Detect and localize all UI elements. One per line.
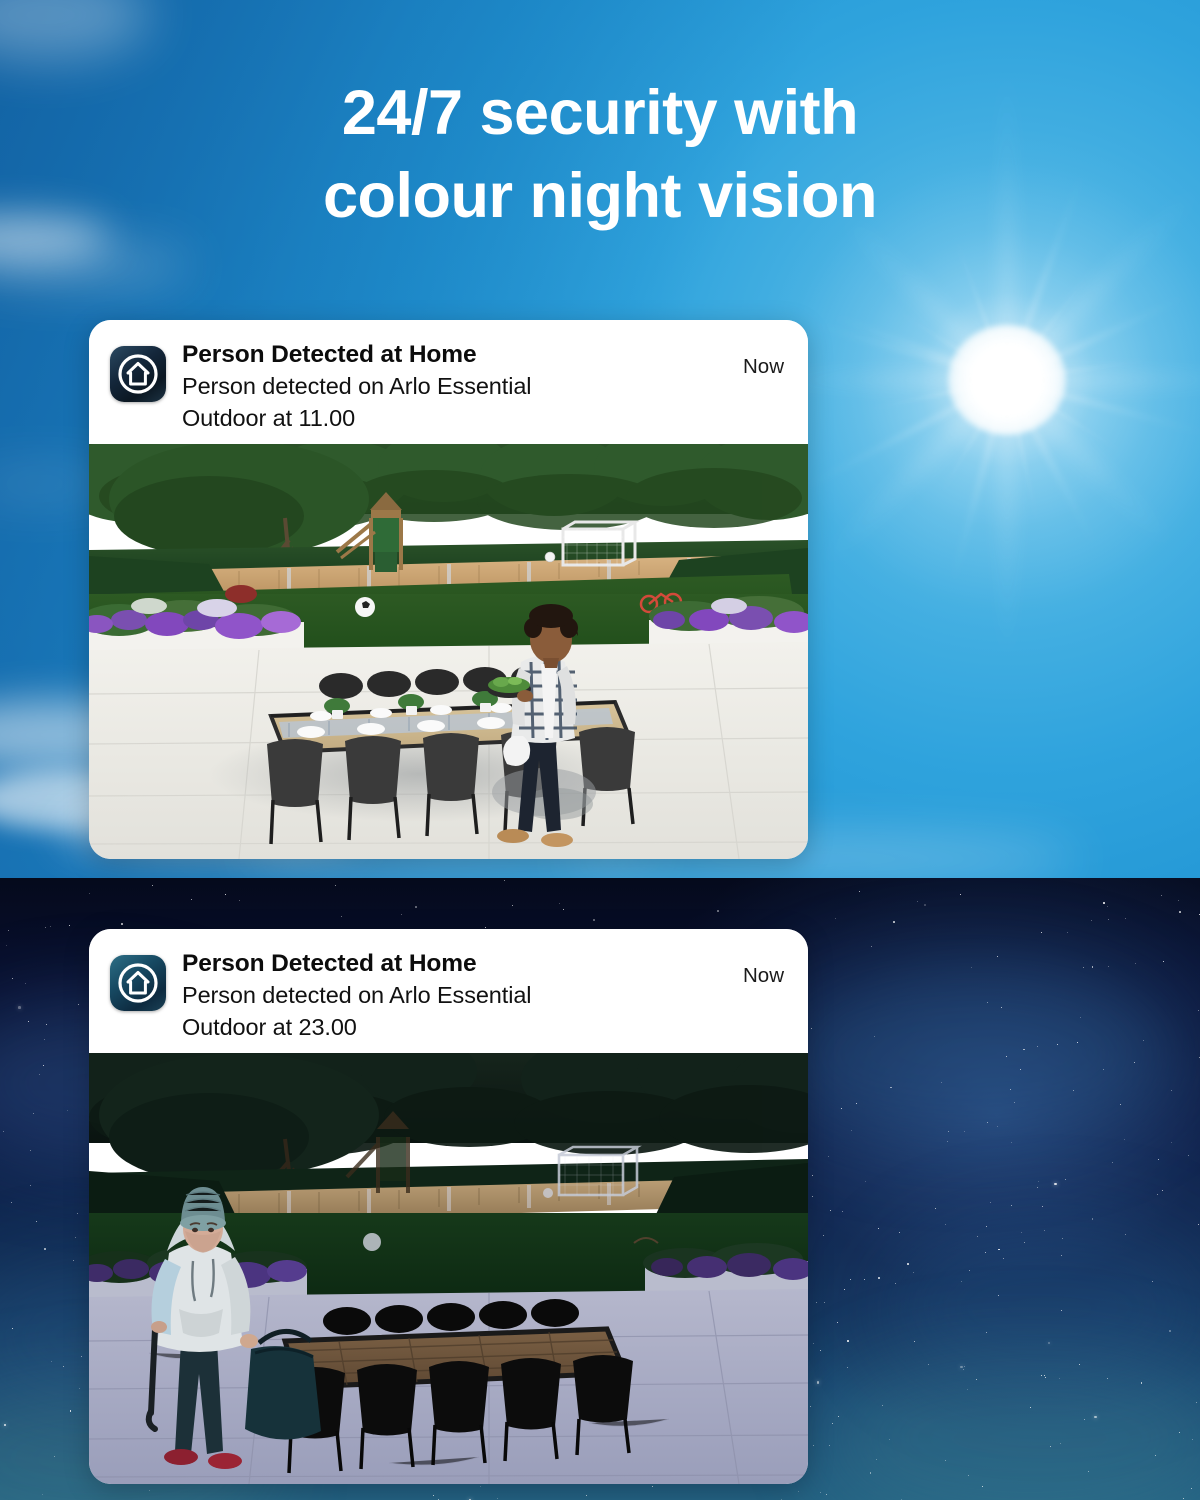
- star: [239, 900, 240, 901]
- camera-feed-night[interactable]: [89, 1053, 808, 1484]
- star: [1050, 1446, 1051, 1447]
- star: [838, 1416, 839, 1417]
- notification-body-line-1: Person detected on Arlo Essential: [182, 371, 727, 402]
- star: [18, 1006, 21, 1009]
- star: [1135, 963, 1136, 964]
- star: [871, 946, 872, 947]
- star: [1152, 1281, 1153, 1282]
- star: [1065, 1179, 1066, 1180]
- star: [1014, 1102, 1015, 1103]
- star: [1179, 911, 1181, 913]
- notification-body-line-2: Outdoor at 11.00: [182, 403, 727, 434]
- page-title: 24/7 security with colour night vision: [0, 72, 1200, 238]
- star: [36, 1221, 37, 1222]
- star: [998, 1249, 1000, 1251]
- star: [889, 1439, 890, 1440]
- star: [986, 1226, 987, 1227]
- star: [652, 1486, 653, 1487]
- star: [11, 1202, 12, 1203]
- star: [717, 910, 719, 912]
- star: [3, 1131, 4, 1132]
- star: [876, 1459, 877, 1460]
- star: [401, 914, 402, 915]
- star: [1073, 1090, 1074, 1091]
- star: [44, 1248, 46, 1250]
- star: [1060, 1443, 1061, 1444]
- star: [964, 1366, 965, 1367]
- star: [1011, 1205, 1012, 1206]
- star: [1045, 1377, 1046, 1378]
- star: [563, 909, 564, 910]
- star: [28, 1021, 29, 1022]
- star: [1054, 1183, 1057, 1186]
- star: [859, 891, 860, 892]
- star: [945, 1460, 946, 1461]
- star: [990, 1202, 991, 1203]
- star: [73, 1260, 74, 1261]
- star: [480, 1486, 481, 1487]
- star: [586, 1495, 587, 1496]
- star: [4, 1424, 7, 1427]
- star: [1037, 1046, 1038, 1047]
- star: [70, 1410, 72, 1412]
- star: [820, 1350, 821, 1351]
- star: [850, 1279, 851, 1280]
- star: [67, 1110, 68, 1111]
- star: [835, 918, 836, 919]
- star: [1061, 1255, 1062, 1256]
- star: [844, 1289, 845, 1290]
- notification-text-block: Person Detected at Home Person detected …: [182, 338, 727, 434]
- star: [1011, 1142, 1012, 1143]
- arlo-home-icon: [110, 346, 166, 402]
- star: [44, 1039, 45, 1040]
- star: [33, 1113, 34, 1114]
- star: [987, 1122, 988, 1123]
- star: [12, 1328, 13, 1329]
- star: [1112, 1162, 1113, 1163]
- star: [841, 1108, 842, 1109]
- notification-text-block: Person Detected at Home Person detected …: [182, 947, 727, 1043]
- nebula-wisp: [820, 1348, 1200, 1500]
- star: [50, 926, 51, 927]
- star: [75, 1237, 76, 1238]
- day-panel: 24/7 security with colour night vision P…: [0, 0, 1200, 878]
- notification-card-day[interactable]: Person Detected at Home Person detected …: [89, 320, 808, 859]
- nebula-wisp: [760, 958, 1180, 1148]
- notification-timestamp: Now: [743, 338, 790, 379]
- star: [1198, 1010, 1199, 1011]
- notification-timestamp: Now: [743, 947, 790, 988]
- star: [54, 1456, 55, 1457]
- star: [149, 1490, 150, 1491]
- star: [1003, 1258, 1004, 1259]
- star: [948, 1131, 949, 1132]
- star: [79, 1388, 80, 1389]
- star: [1092, 1218, 1094, 1220]
- notification-body-line-1: Person detected on Arlo Essential: [182, 980, 727, 1011]
- star: [823, 1235, 824, 1236]
- star: [1188, 1155, 1189, 1156]
- star: [191, 899, 192, 900]
- star: [1107, 906, 1108, 907]
- star: [1010, 1089, 1011, 1090]
- star: [1107, 1378, 1108, 1379]
- star: [1091, 920, 1092, 921]
- star: [817, 1381, 820, 1384]
- star: [812, 1175, 813, 1176]
- notification-header: Person Detected at Home Person detected …: [89, 929, 808, 1053]
- star: [977, 1236, 978, 1237]
- star: [812, 1196, 813, 1197]
- star: [997, 956, 999, 958]
- notification-card-night[interactable]: Person Detected at Home Person detected …: [89, 929, 808, 1484]
- star: [1196, 1402, 1197, 1403]
- star: [593, 919, 595, 921]
- star: [1001, 1007, 1002, 1008]
- star: [89, 893, 90, 894]
- star: [25, 983, 26, 984]
- star: [1048, 1342, 1051, 1345]
- star: [1125, 918, 1126, 919]
- camera-feed-day[interactable]: [89, 444, 808, 859]
- star: [826, 1494, 827, 1495]
- star: [46, 1024, 47, 1025]
- star: [1192, 1439, 1193, 1440]
- star: [837, 1322, 838, 1323]
- star: [813, 1343, 814, 1344]
- star: [225, 894, 226, 895]
- star: [12, 978, 13, 979]
- star: [1079, 1364, 1080, 1365]
- star: [813, 1445, 814, 1446]
- star: [798, 1491, 799, 1492]
- star: [810, 1406, 811, 1407]
- star: [971, 967, 972, 968]
- star: [969, 1270, 970, 1271]
- star: [1041, 932, 1042, 933]
- star: [1088, 1471, 1089, 1472]
- star: [415, 906, 417, 908]
- star: [811, 1028, 812, 1029]
- star: [1044, 1230, 1045, 1231]
- star: [1044, 1375, 1045, 1376]
- star: [8, 930, 9, 931]
- star: [878, 1228, 879, 1229]
- star: [928, 1364, 929, 1365]
- star: [1023, 1049, 1025, 1051]
- star: [78, 1004, 79, 1005]
- star: [43, 1065, 44, 1066]
- star: [559, 903, 560, 904]
- star: [864, 1279, 865, 1280]
- star: [1057, 1044, 1058, 1045]
- star: [865, 1181, 866, 1182]
- star: [1169, 1330, 1171, 1332]
- star: [335, 885, 336, 886]
- star: [960, 1366, 963, 1369]
- star: [968, 1475, 969, 1476]
- star: [1067, 932, 1068, 933]
- star: [982, 1486, 983, 1487]
- star: [81, 1356, 82, 1357]
- star: [1083, 967, 1084, 968]
- star: [1183, 1498, 1184, 1499]
- star: [1157, 1194, 1158, 1195]
- headline-line-2: colour night vision: [323, 161, 877, 231]
- star: [1061, 1310, 1062, 1311]
- star: [964, 1131, 965, 1132]
- star: [824, 1302, 825, 1303]
- notification-body-line-2: Outdoor at 23.00: [182, 1012, 727, 1043]
- star: [433, 1495, 434, 1496]
- night-panel: Person Detected at Home Person detected …: [0, 878, 1200, 1500]
- notification-header: Person Detected at Home Person detected …: [89, 320, 808, 444]
- star: [847, 1340, 849, 1342]
- star: [1108, 966, 1109, 967]
- star: [1155, 1455, 1156, 1456]
- star: [890, 1087, 892, 1089]
- star: [851, 1130, 852, 1131]
- star: [1125, 1234, 1126, 1235]
- star: [935, 1208, 936, 1209]
- star: [1108, 919, 1109, 920]
- star: [1024, 1242, 1025, 1243]
- star: [947, 1141, 948, 1142]
- star: [1094, 1416, 1097, 1419]
- star: [1030, 1407, 1031, 1408]
- star: [1059, 1378, 1060, 1379]
- arlo-home-icon: [110, 955, 166, 1011]
- star: [1103, 902, 1105, 904]
- star: [907, 1263, 909, 1265]
- star: [997, 1126, 998, 1127]
- star: [1120, 1104, 1121, 1105]
- star: [152, 885, 153, 886]
- star: [1021, 1232, 1022, 1233]
- star: [63, 1366, 64, 1367]
- star: [913, 1272, 914, 1273]
- star: [1042, 1206, 1043, 1207]
- notification-title: Person Detected at Home: [182, 949, 727, 979]
- star: [998, 1295, 999, 1296]
- star: [1191, 1488, 1192, 1489]
- star: [1158, 1159, 1159, 1160]
- star: [941, 1082, 942, 1083]
- star: [960, 894, 961, 895]
- star: [69, 925, 70, 926]
- star: [1161, 895, 1162, 896]
- star: [1103, 1069, 1104, 1070]
- star: [1171, 1142, 1172, 1143]
- star: [39, 1074, 40, 1075]
- star: [870, 1472, 872, 1474]
- star: [1006, 1056, 1007, 1057]
- star: [874, 1036, 875, 1037]
- star: [1124, 1139, 1125, 1140]
- star: [976, 1379, 977, 1380]
- star: [829, 1445, 830, 1446]
- star: [987, 1002, 989, 1004]
- star: [1037, 1187, 1038, 1188]
- star: [832, 1423, 834, 1425]
- star: [986, 1332, 987, 1333]
- star: [121, 923, 123, 925]
- star: [847, 1367, 848, 1368]
- star: [1038, 1181, 1039, 1182]
- star: [1020, 1069, 1021, 1070]
- star: [42, 1494, 43, 1495]
- star: [842, 1211, 843, 1212]
- star: [6, 945, 7, 946]
- star: [1092, 966, 1094, 968]
- star: [878, 1277, 880, 1279]
- star: [1198, 1224, 1199, 1225]
- star: [963, 1369, 964, 1370]
- star: [816, 1302, 817, 1303]
- star: [1062, 1238, 1063, 1239]
- star: [30, 1185, 31, 1186]
- star: [1179, 1432, 1180, 1433]
- star: [856, 1103, 857, 1104]
- star: [882, 1405, 883, 1406]
- star: [924, 904, 926, 906]
- star: [899, 1232, 900, 1233]
- notification-title: Person Detected at Home: [182, 340, 727, 370]
- star: [45, 927, 46, 928]
- star: [961, 1281, 962, 1282]
- star: [30, 1150, 31, 1151]
- star: [1141, 1382, 1143, 1384]
- star: [820, 1492, 821, 1493]
- star: [895, 1283, 896, 1284]
- star: [901, 1499, 902, 1500]
- star: [1162, 1190, 1163, 1191]
- star: [77, 1213, 78, 1214]
- star: [828, 1156, 829, 1157]
- star: [914, 1341, 915, 1342]
- star: [945, 1224, 946, 1225]
- star: [917, 901, 918, 902]
- star: [1143, 1040, 1144, 1041]
- star: [985, 1252, 986, 1253]
- headline-line-1: 24/7 security with: [342, 78, 858, 148]
- nebula-wisp: [880, 1218, 1200, 1398]
- star: [1041, 1375, 1042, 1376]
- star: [1084, 1419, 1085, 1420]
- star: [893, 921, 895, 923]
- star: [1077, 1042, 1078, 1043]
- star: [830, 1210, 831, 1211]
- star: [1178, 900, 1179, 901]
- star: [512, 905, 514, 907]
- star: [1163, 961, 1165, 963]
- star: [485, 927, 486, 928]
- star: [1171, 1090, 1172, 1091]
- star: [1134, 1062, 1135, 1063]
- star: [967, 1389, 968, 1390]
- star: [497, 1498, 499, 1500]
- star: [504, 880, 505, 881]
- star: [1080, 1017, 1081, 1018]
- star: [341, 916, 342, 917]
- promo-page: 24/7 security with colour night vision P…: [0, 0, 1200, 1500]
- star: [51, 1361, 52, 1362]
